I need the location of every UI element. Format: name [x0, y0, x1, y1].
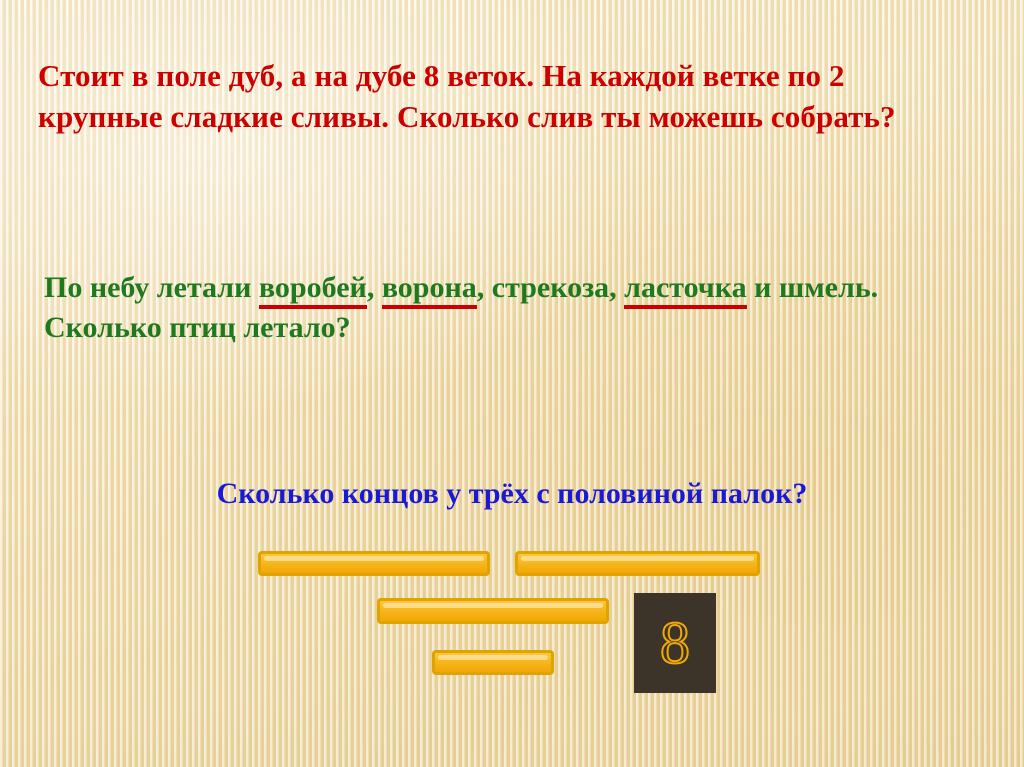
stick-bar-2 [515, 551, 760, 576]
task-1-text: Стоит в поле дуб, а на дубе 8 веток. На … [38, 55, 968, 137]
sticks-diagram [0, 540, 1024, 720]
task-2-sep-2: , стрекоза, [477, 271, 624, 304]
task-2-lead: По небу летали [44, 271, 259, 304]
task-3-text: Сколько концов у трёх с половиной палок? [0, 477, 1024, 511]
stick-bar-3 [377, 598, 609, 624]
task-2-sep-1: , [367, 271, 382, 304]
task-2-text: По небу летали воробей, ворона, стрекоза… [44, 268, 984, 348]
stick-bar-4 [432, 650, 554, 675]
task-2-word-sparrow: воробей [259, 271, 367, 309]
slide-canvas: Стоит в поле дуб, а на дубе 8 веток. На … [0, 0, 1024, 767]
task-3-body: Сколько концов у трёх с половиной палок? [217, 477, 808, 510]
stick-bar-1 [258, 551, 490, 576]
badge-digit: 8 [634, 593, 716, 693]
task-1-body: Стоит в поле дуб, а на дубе 8 веток. На … [38, 58, 896, 134]
task-2-word-swallow: ласточка [624, 271, 746, 309]
task-2-word-crow: ворона [382, 271, 477, 309]
number-badge: 8 [634, 593, 716, 693]
